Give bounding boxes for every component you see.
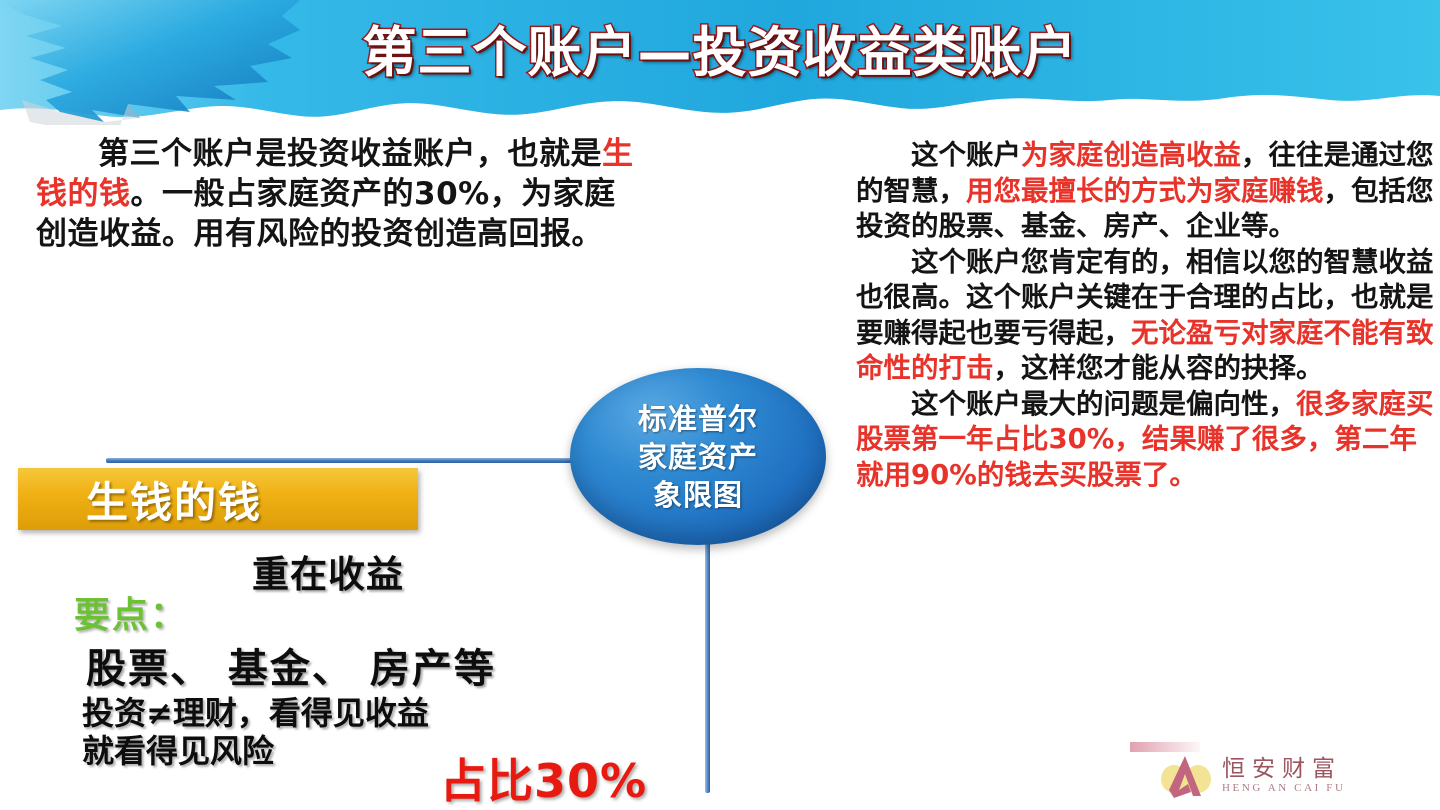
rp3-part1: 这个账户最大的问题是偏向性， [911,388,1296,420]
rp1-highlight1: 为家庭创造高收益 [1021,139,1241,171]
rp1-part1: 这个账户 [911,139,1021,171]
rp2-part2: ，这样您才能从容的抉择。 [994,352,1324,384]
keypoints-label: 要点： [74,586,188,638]
rp1-highlight2: 用您最擅长的方式为家庭赚钱 [966,175,1324,207]
ratio-callout: 占比30% [440,745,647,810]
logo-english-name: HENG AN CAI FU [1222,782,1346,795]
logo-mark-icon [1158,752,1212,800]
right-paragraph-2: 这个账户您肯定有的，相信以您的智慧收益也很高。这个账户关键在于合理的占比，也就是… [856,245,1434,387]
ellipse-line-2: 家庭资产 [638,438,758,476]
left-paragraph-part1: 第三个账户是投资收益账户，也就是 [98,136,602,172]
quadrant-diagram-ellipse[interactable]: 标准普尔 家庭资产 象限图 [570,368,826,545]
right-paragraph-block: 这个账户为家庭创造高收益，往往是通过您的智慧，用您最擅长的方式为家庭赚钱，包括您… [856,138,1434,493]
left-paragraph: 第三个账户是投资收益账户，也就是生钱的钱。一般占家庭资产的30%，为家庭创造收益… [36,134,636,254]
title-banner: 第三个账户—投资收益类账户 [0,0,1440,125]
keypoints-items: 股票、 基金、 房产等 [86,636,496,694]
gold-banner: 生钱的钱 [18,468,418,530]
left-paragraph-block: 第三个账户是投资收益账户，也就是生钱的钱。一般占家庭资产的30%，为家庭创造收益… [36,134,636,254]
connector-vertical-line [705,525,710,793]
note-block: 投资≠理财，看得见收益 就看得见风险 [82,694,429,770]
right-paragraph-3: 这个账户最大的问题是偏向性，很多家庭买股票第一年占比30%，结果赚了很多，第二年… [856,387,1434,494]
logo-smudge-artifact [1130,742,1200,752]
ellipse-label: 标准普尔 家庭资产 象限图 [638,400,758,514]
logo-chinese-name: 恒安财富 [1222,757,1346,782]
ellipse-line-1: 标准普尔 [638,400,758,438]
note-line-2: 就看得见风险 [82,732,429,770]
right-paragraph-1: 这个账户为家庭创造高收益，往往是通过您的智慧，用您最擅长的方式为家庭赚钱，包括您… [856,138,1434,245]
ellipse-line-3: 象限图 [638,476,758,514]
subheading: 重在收益 [252,544,404,598]
brand-logo: 恒安财富 HENG AN CAI FU [1158,752,1346,800]
page-title: 第三个账户—投资收益类账户 [0,8,1440,87]
gold-banner-label: 生钱的钱 [86,469,262,530]
note-line-1: 投资≠理财，看得见收益 [82,694,429,732]
logo-text: 恒安财富 HENG AN CAI FU [1222,757,1346,795]
slide-canvas: 第三个账户—投资收益类账户 第三个账户是投资收益账户，也就是生钱的钱。一般占家庭… [0,0,1440,810]
